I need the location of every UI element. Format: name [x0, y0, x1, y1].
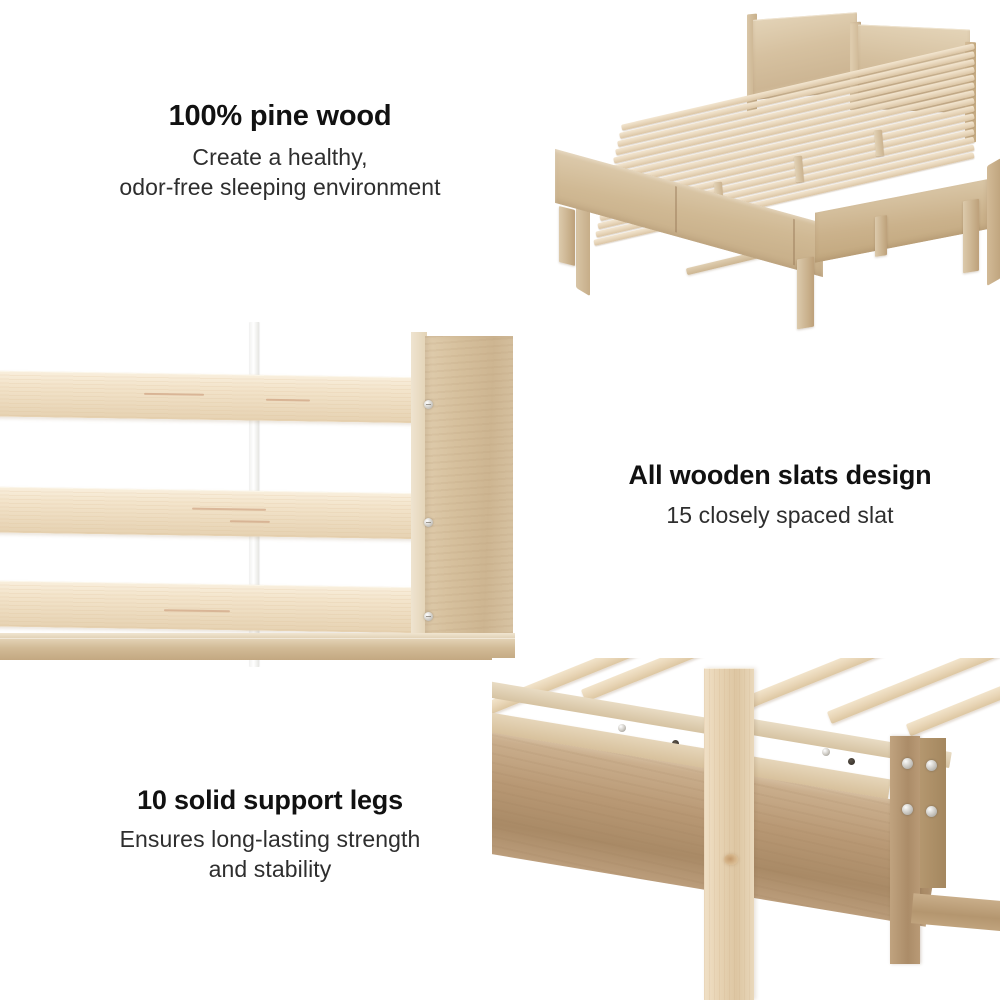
bracket-fixing-hole	[848, 758, 855, 765]
bed-leg-front-left	[559, 206, 575, 266]
underside-slat	[827, 658, 1000, 724]
slat-screw	[424, 612, 433, 621]
bottom-rail	[0, 638, 515, 660]
pine-slat	[0, 581, 438, 634]
pine-slat	[0, 371, 438, 424]
corner-support-leg	[890, 736, 920, 964]
photo-bed-frame-hero	[545, 0, 1000, 335]
bed-leg-front-right	[797, 257, 814, 330]
feature-heading-wooden-slats: All wooden slats design	[570, 460, 990, 490]
side-rail-face	[425, 336, 513, 646]
photo-support-leg-closeup	[492, 658, 1000, 1000]
joint-bolt	[902, 804, 913, 815]
rail-seam	[675, 186, 677, 233]
feature-subtext-pine-wood: Create a healthy, odor-free sleeping env…	[30, 143, 530, 203]
slat-screw	[424, 400, 433, 409]
bed-frame-illustration	[545, 0, 1000, 335]
feature-subtext-wooden-slats: 15 closely spaced slat	[570, 501, 990, 531]
joint-bolt	[926, 806, 937, 817]
feature-heading-pine-wood: 100% pine wood	[30, 100, 530, 132]
bracket-screw	[822, 748, 830, 756]
feature-block-pine-wood: 100% pine wood Create a healthy, odor-fr…	[30, 100, 530, 203]
joint-bolt	[926, 760, 937, 771]
rail-seam	[793, 219, 795, 266]
feature-block-support-legs: 10 solid support legs Ensures long-lasti…	[20, 785, 520, 885]
bracket-screw	[618, 724, 626, 732]
wood-knot	[724, 854, 738, 865]
slat-screw	[424, 518, 433, 527]
center-solid-support-leg	[704, 668, 754, 1000]
feature-block-wooden-slats: All wooden slats design 15 closely space…	[570, 460, 990, 531]
joint-bolt	[902, 758, 913, 769]
bed-leg-rear-right	[963, 199, 979, 274]
deck-rail-right	[987, 158, 1000, 286]
pine-slat	[0, 487, 438, 540]
bed-leg-mid-right	[875, 215, 887, 257]
infographic-canvas: 100% pine wood Create a healthy, odor-fr…	[0, 0, 1000, 1000]
photo-slat-closeup	[0, 322, 515, 667]
feature-subtext-support-legs: Ensures long-lasting strength and stabil…	[20, 825, 520, 885]
feature-heading-support-legs: 10 solid support legs	[20, 785, 520, 815]
leg-crossbar	[911, 893, 1000, 932]
